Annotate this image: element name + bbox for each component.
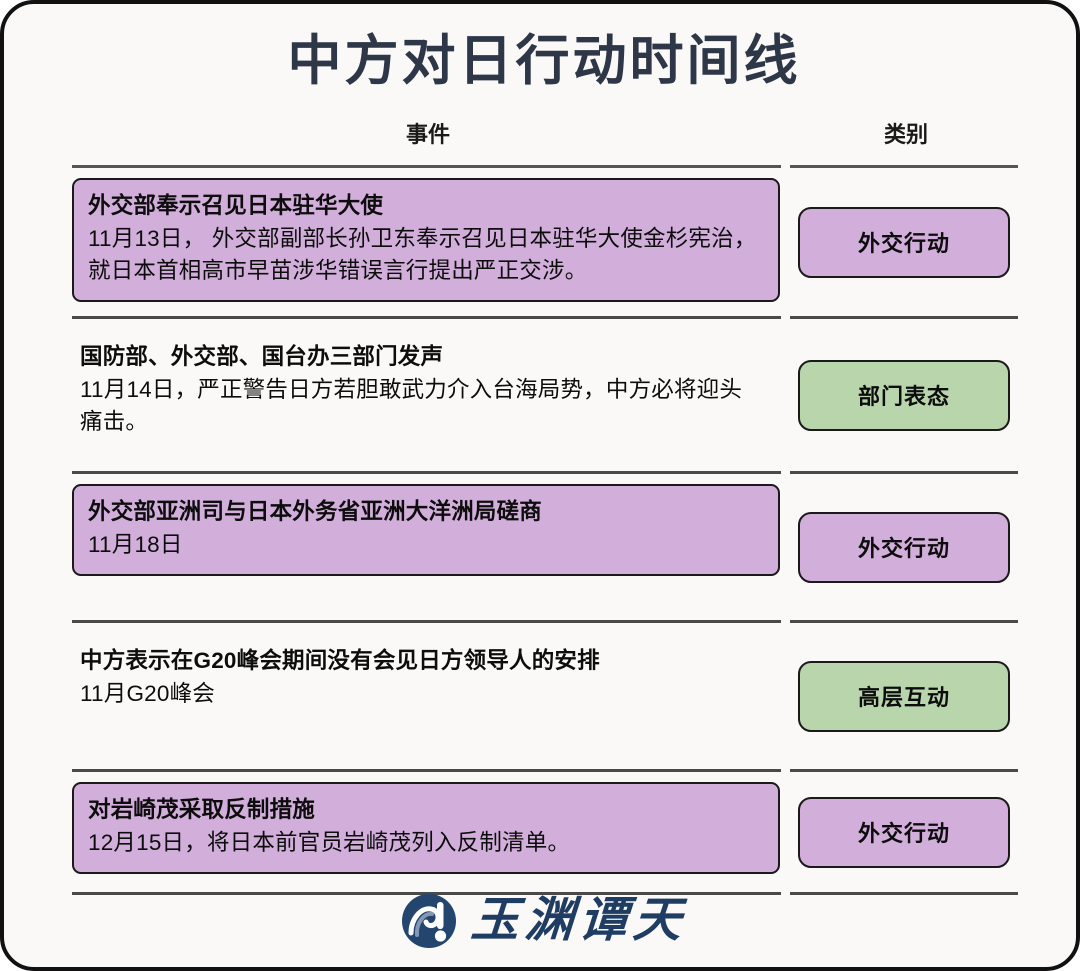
- timeline-table: 事件 类别 外交部奉示召见日本驻华大使11月13日， 外交部副部长孙卫东奉示召见…: [72, 107, 1018, 895]
- table-row: 对岩崎茂采取反制措施12月15日，将日本前官员岩崎茂列入反制清单。外交行动: [72, 772, 1018, 892]
- category-cell: 外交行动: [790, 512, 1018, 583]
- page-title: 中方对日行动时间线: [4, 30, 1080, 92]
- event-description: 11月13日， 外交部副部长孙卫东奉示召见日本驻华大使金杉宪治，就日本首相高市早…: [88, 223, 764, 287]
- status-badge[interactable]: 高层互动: [798, 661, 1010, 732]
- table-row: 外交部亚洲司与日本外务省亚洲大洋洲局磋商11月18日外交行动: [72, 474, 1018, 620]
- event-cell: 对岩崎茂采取反制措施12月15日，将日本前官员岩崎茂列入反制清单。: [72, 782, 780, 874]
- event-title: 外交部亚洲司与日本外务省亚洲大洋洲局磋商: [88, 497, 764, 527]
- timeline-rows: 外交部奉示召见日本驻华大使11月13日， 外交部副部长孙卫东奉示召见日本驻华大使…: [72, 168, 1018, 895]
- footer-logo: 玉渊谭天: [4, 893, 1080, 949]
- table-header-row: 事件 类别: [72, 107, 1018, 165]
- event-cell: 外交部亚洲司与日本外务省亚洲大洋洲局磋商11月18日: [72, 484, 780, 576]
- column-header-category: 类别: [794, 117, 1018, 149]
- status-badge[interactable]: 部门表态: [798, 360, 1010, 431]
- event-description: 12月15日，将日本前官员岩崎茂列入反制清单。: [88, 827, 764, 859]
- column-header-event: 事件: [72, 117, 784, 149]
- table-row: 中方表示在G20峰会期间没有会见日方领导人的安排11月G20峰会高层互动: [72, 623, 1018, 769]
- logo-wordmark: 玉渊谭天: [469, 897, 688, 945]
- table-row: 国防部、外交部、国台办三部门发声11月14日，严正警告日方若胆敢武力介入台海局势…: [72, 319, 1018, 471]
- event-title: 中方表示在G20峰会期间没有会见日方领导人的安排: [80, 646, 764, 676]
- status-badge[interactable]: 外交行动: [798, 797, 1010, 868]
- timeline-card: 中方对日行动时间线 事件 类别 外交部奉示召见日本驻华大使11月13日， 外交部…: [0, 0, 1080, 971]
- category-cell: 外交行动: [790, 797, 1018, 868]
- event-cell: 外交部奉示召见日本驻华大使11月13日， 外交部副部长孙卫东奉示召见日本驻华大使…: [72, 178, 780, 302]
- status-badge[interactable]: 外交行动: [798, 512, 1010, 583]
- event-cell: 中方表示在G20峰会期间没有会见日方领导人的安排11月G20峰会: [72, 633, 780, 725]
- event-title: 国防部、外交部、国台办三部门发声: [80, 342, 764, 372]
- status-badge[interactable]: 外交行动: [798, 207, 1010, 278]
- category-cell: 外交行动: [790, 207, 1018, 278]
- event-description: 11月G20峰会: [80, 678, 764, 710]
- event-title: 对岩崎茂采取反制措施: [88, 795, 764, 825]
- event-plain-box: 中方表示在G20峰会期间没有会见日方领导人的安排11月G20峰会: [72, 633, 780, 725]
- category-cell: 部门表态: [790, 360, 1018, 431]
- yuyuantantian-wave-icon: [401, 893, 457, 949]
- event-plain-box: 国防部、外交部、国台办三部门发声11月14日，严正警告日方若胆敢武力介入台海局势…: [72, 329, 780, 453]
- event-title: 外交部奉示召见日本驻华大使: [88, 191, 764, 221]
- event-highlight-box: 外交部奉示召见日本驻华大使11月13日， 外交部副部长孙卫东奉示召见日本驻华大使…: [72, 178, 780, 302]
- table-row: 外交部奉示召见日本驻华大使11月13日， 外交部副部长孙卫东奉示召见日本驻华大使…: [72, 168, 1018, 316]
- event-highlight-box: 外交部亚洲司与日本外务省亚洲大洋洲局磋商11月18日: [72, 484, 780, 576]
- event-highlight-box: 对岩崎茂采取反制措施12月15日，将日本前官员岩崎茂列入反制清单。: [72, 782, 780, 874]
- category-cell: 高层互动: [790, 661, 1018, 732]
- event-description: 11月14日，严正警告日方若胆敢武力介入台海局势，中方必将迎头痛击。: [80, 374, 764, 438]
- event-description: 11月18日: [88, 529, 764, 561]
- event-cell: 国防部、外交部、国台办三部门发声11月14日，严正警告日方若胆敢武力介入台海局势…: [72, 329, 780, 453]
